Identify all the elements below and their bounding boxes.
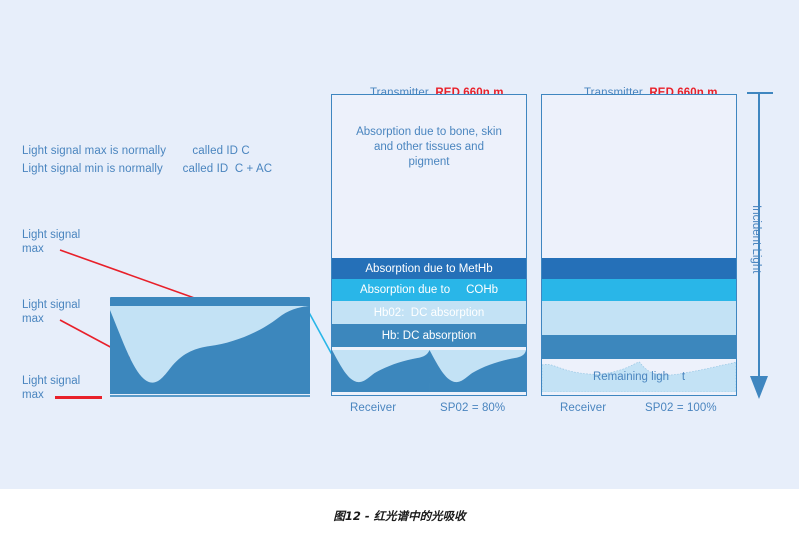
- right-band-methb: [542, 258, 736, 279]
- figure-caption: 图12 - 红光谱中的光吸收: [0, 508, 799, 524]
- callout-middle-line1: Light signal max: [22, 298, 80, 326]
- mid-band-methb: Absorption due to MetHb: [332, 258, 526, 279]
- red-legend-swatch: [55, 396, 102, 399]
- left-ppg-waveform: [110, 296, 310, 394]
- callout-top-line1: Light signal max: [22, 228, 80, 256]
- legend-line-min: Light signal min is normally called ID C…: [22, 163, 272, 175]
- mid-band-hb: Hb: DC absorption: [332, 324, 526, 347]
- figure-stage: Light signal max is normally called ID C…: [0, 0, 799, 534]
- absorption-panel-spo2-80: Absorption due to bone, skin and other t…: [331, 94, 527, 396]
- mid-tissue-region: Absorption due to bone, skin and other t…: [332, 95, 526, 258]
- mid-band-hbo2: Hb02: DC absorption: [332, 301, 526, 324]
- right-receiver-label: Receiver: [560, 402, 606, 414]
- mid-tissue-text: Absorption due to bone, skin and other t…: [332, 125, 526, 170]
- mid-band-cohb: Absorption due to COHb: [332, 279, 526, 301]
- callout-label-top: Light signal max: [22, 228, 80, 256]
- mid-spo2-value: SP02 = 80%: [440, 402, 505, 414]
- mid-receiver-region: [332, 347, 526, 392]
- left-waveform-baseline: [110, 395, 310, 397]
- arrow-head-icon: [750, 376, 768, 399]
- right-band-hb: [542, 335, 736, 359]
- mid-receiver-label: Receiver: [350, 402, 396, 414]
- mid-ppg-waveforms: [332, 347, 526, 392]
- remaining-light-label: Remaining ligh t: [542, 371, 736, 383]
- right-band-hbo2: [542, 301, 736, 335]
- legend-line-max: Light signal max is normally called ID C: [22, 145, 250, 157]
- right-tissue-region: [542, 95, 736, 258]
- callout-label-middle: Light signal max: [22, 298, 80, 326]
- right-remaining-region: Remaining ligh t: [542, 359, 736, 392]
- right-spo2-value: SP02 = 100%: [645, 402, 717, 414]
- right-band-cohb: [542, 279, 736, 301]
- absorption-panel-spo2-100: Remaining ligh t: [541, 94, 737, 396]
- incident-light-label: Incident Light: [750, 205, 762, 273]
